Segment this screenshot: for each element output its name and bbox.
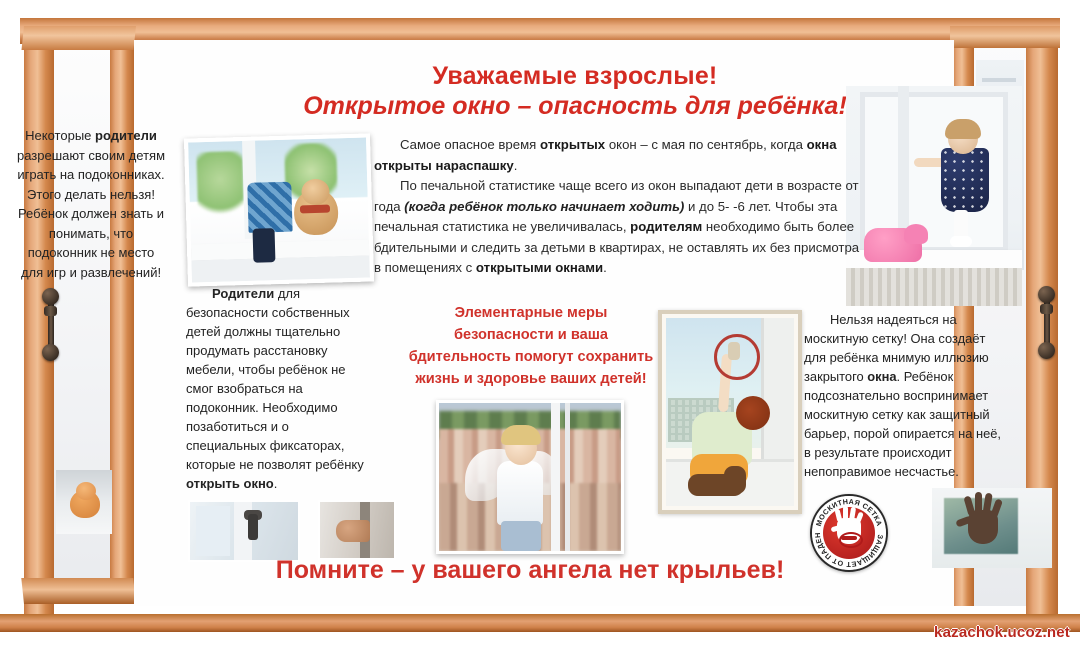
window-right-sash-top-rail xyxy=(950,26,1060,48)
right-col-bold-window: окна xyxy=(867,369,896,384)
right-col-c: . Ребёнок подсознательно воспринимает мо… xyxy=(804,369,1001,479)
intro-p1-e: . xyxy=(514,158,518,173)
photo-window-lock xyxy=(188,500,300,562)
parents-text-column: Родители для безопасности собственных де… xyxy=(186,284,368,493)
intro-p1-a: Самое опасное время xyxy=(400,137,540,152)
intro-p2-bold-openwindows: открытыми окнами xyxy=(476,260,603,275)
intro-p1-bold-open: открытых xyxy=(540,137,605,152)
photo-teddy-through-left-glass xyxy=(56,470,112,534)
poster-root: Уважаемые взрослые! Открытое окно – опас… xyxy=(0,0,1080,647)
photo-angel-child-at-window xyxy=(436,400,624,554)
photo-boy-teddy-on-windowsill xyxy=(184,133,374,286)
center-red-line-2: безопасности и ваша xyxy=(404,324,658,346)
parents-bold-lead: Родители xyxy=(212,286,274,301)
highlight-circle-window-latch xyxy=(714,334,760,380)
left-col-bold-parents: родители xyxy=(95,128,157,143)
center-red-line-3: бдительность помогут сохранить xyxy=(404,346,658,368)
parents-bold-openwindow: открыть окно xyxy=(186,476,274,491)
parents-period: . xyxy=(274,476,278,491)
photo-hand-on-window-handle xyxy=(318,500,396,560)
center-red-line-1: Элементарные меры xyxy=(404,302,658,324)
window-handle-right[interactable] xyxy=(1038,286,1064,360)
site-watermark: kazachok.ucoz.net xyxy=(934,624,1070,641)
center-red-callout: Элементарные меры безопасности и ваша бд… xyxy=(404,302,658,390)
left-col-part-c: разрешают своим детям играть на подоконн… xyxy=(17,148,165,280)
photo-girl-blue-dress-at-window xyxy=(846,86,1022,306)
intro-p2-bold-parents: родителям xyxy=(630,219,702,234)
left-text-column: Некоторые родители разрешают своим детям… xyxy=(16,126,166,282)
parents-body: для безопасности собственных детей должн… xyxy=(186,286,364,472)
center-red-line-4: жизнь и здоровье ваших детей! xyxy=(404,368,658,390)
window-left-sash-bottom-rail xyxy=(21,578,136,604)
poster-footer-slogan: Помните – у вашего ангела нет крыльев! xyxy=(230,556,830,585)
poster-title-secondary: Открытое окно – опасность для ребёнка! xyxy=(280,92,870,121)
svg-text:МОСКИТНАЯ СЕТКА: МОСКИТНАЯ СЕТКА xyxy=(814,497,884,527)
photo-hand-on-glass xyxy=(932,488,1052,568)
intro-p2-f: . xyxy=(603,260,607,275)
window-handle-left[interactable] xyxy=(42,288,68,362)
left-col-part-a: Некоторые xyxy=(25,128,95,143)
window-frame-bottom-rail xyxy=(0,614,1080,632)
poster-title-primary: Уважаемые взрослые! xyxy=(310,62,840,91)
window-left-sash-top-rail xyxy=(21,26,136,50)
intro-p1-c: окон – с мая по сентябрь, когда xyxy=(605,137,806,152)
badge-text-top: МОСКИТНАЯ СЕТКА xyxy=(814,497,884,527)
intro-p2-italic: (когда ребёнок только начинает ходить) xyxy=(404,199,684,214)
right-text-column: Нельзя надеяться на москитную сетку! Она… xyxy=(804,310,1008,481)
photo-illustration-boy-climbing-window xyxy=(658,310,802,514)
intro-text-block: Самое опасное время открытых окон – с ма… xyxy=(374,135,866,279)
